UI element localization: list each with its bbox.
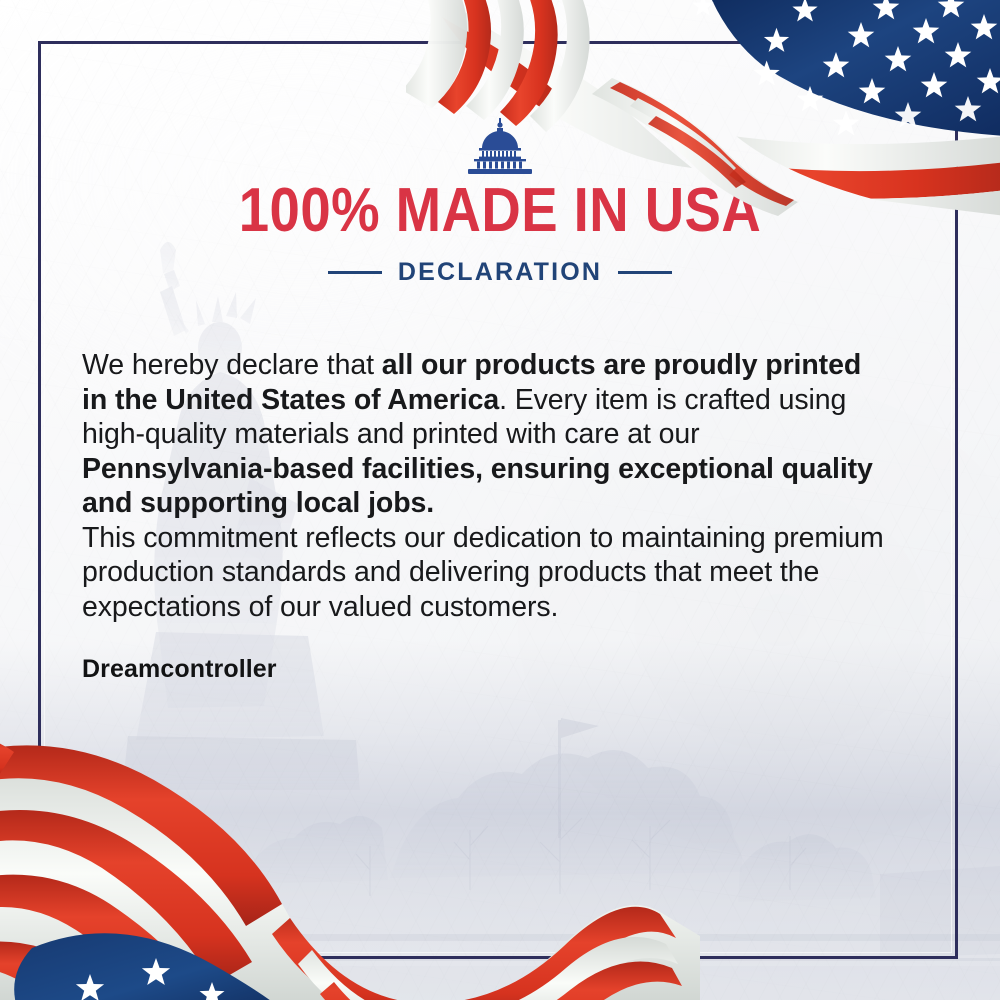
subtitle-row: DECLARATION	[0, 258, 1000, 287]
page-title: 100% MADE IN USA	[60, 180, 940, 242]
para1-seg4-bold: Pennsylvania-based facilities, ensuring …	[82, 453, 873, 520]
signature-brand: Dreamcontroller	[82, 655, 277, 684]
capitol-dome-icon	[463, 118, 537, 174]
para1-seg1: We hereby declare that	[82, 349, 382, 381]
page-subtitle: DECLARATION	[398, 258, 602, 287]
rule-right	[618, 271, 672, 274]
paragraph-two: This commitment reflects our dedication …	[82, 521, 894, 625]
declaration-page: 100% MADE IN USA DECLARATION We hereby d…	[0, 0, 1000, 1000]
rule-left	[328, 271, 382, 274]
declaration-body: We hereby declare that all our products …	[82, 348, 894, 624]
header-block: 100% MADE IN USA DECLARATION	[0, 118, 1000, 287]
paragraph-one: We hereby declare that all our products …	[82, 348, 894, 521]
